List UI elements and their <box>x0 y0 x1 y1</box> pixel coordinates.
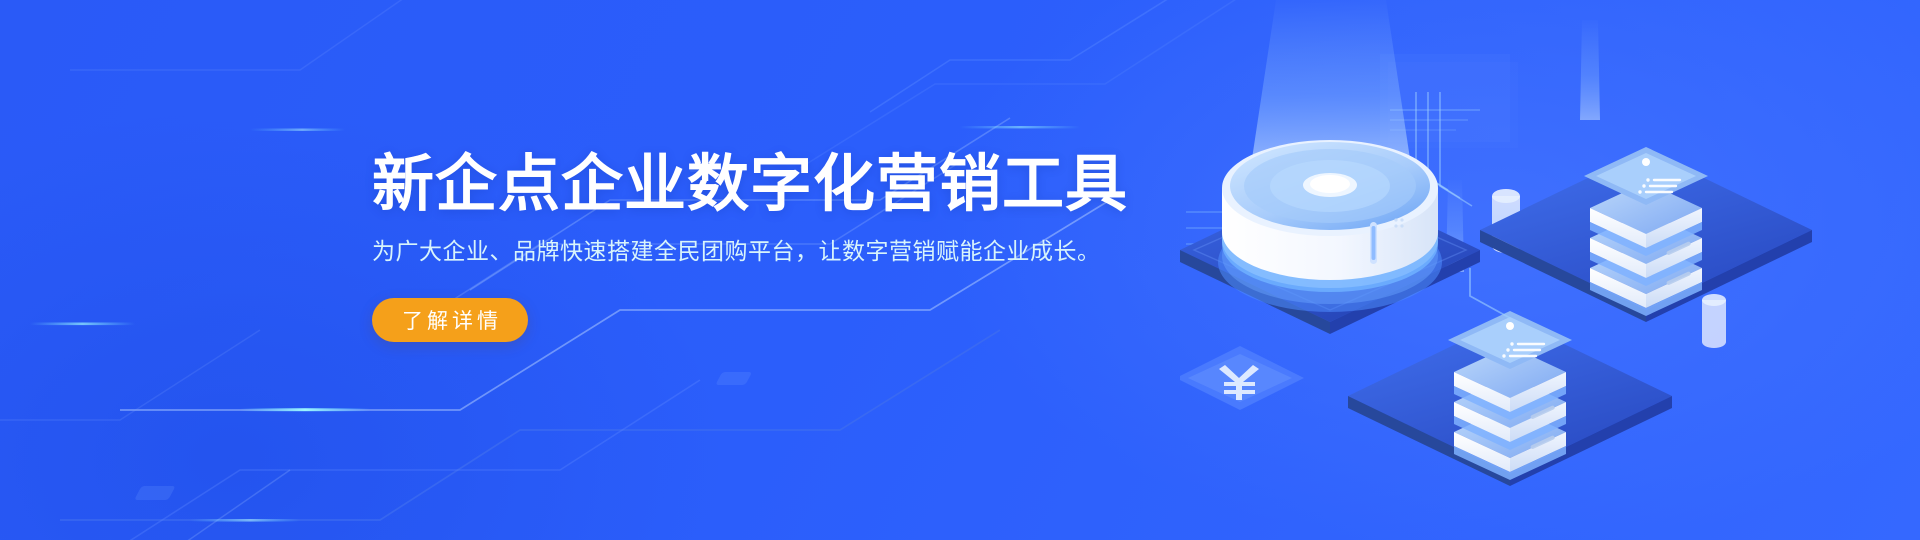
page-title: 新企点企业数字化营销工具 <box>372 150 1092 219</box>
cylinder-marker-b <box>1702 294 1726 348</box>
connector-line <box>1470 268 1510 318</box>
isometric-tech-illustration <box>1180 0 1920 540</box>
banner-subtitle: 为广大企业、品牌快速搭建全民团购平台，让数字营销赋能企业成长。 <box>372 235 1092 267</box>
light-beam-server-upper <box>1580 20 1600 120</box>
learn-more-button[interactable]: 了解详情 <box>372 298 528 342</box>
cta-container: 了解详情 <box>372 298 1092 342</box>
currency-tile <box>1180 346 1304 410</box>
server-stack-lower <box>1348 311 1672 486</box>
smart-speaker-device <box>1218 140 1442 312</box>
marketing-banner: 新企点企业数字化营销工具 为广大企业、品牌快速搭建全民团购平台，让数字营销赋能企… <box>0 0 1920 540</box>
banner-content: 新企点企业数字化营销工具 为广大企业、品牌快速搭建全民团购平台，让数字营销赋能企… <box>372 150 1092 342</box>
server-stack-upper <box>1480 147 1812 322</box>
